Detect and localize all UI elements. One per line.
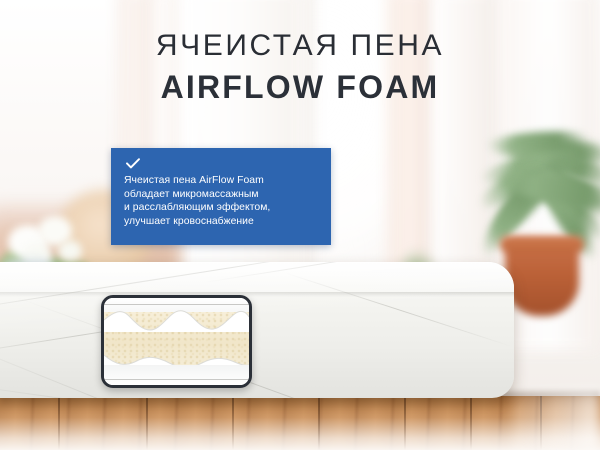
callout-line-2: обладает микромассажным [124, 188, 318, 202]
callout-line-3: и расслабляющим эффектом, [124, 201, 318, 215]
floor-right-blur [512, 390, 600, 450]
page-title: ЯЧЕИСТАЯ ПЕНА AIRFLOW FOAM [0, 28, 600, 107]
check-icon [126, 158, 140, 169]
foam-wave-top [104, 306, 249, 332]
white-flower-4 [58, 240, 82, 262]
callout-line-1: Ячеистая пена AirFlow Foam [124, 174, 318, 188]
feature-callout-box: Ячеистая пена AirFlow Foam обладает микр… [111, 148, 331, 245]
feature-callout-text: Ячеистая пена AirFlow Foam обладает микр… [124, 174, 318, 228]
headline-line-2: AIRFLOW FOAM [0, 67, 600, 107]
inset-seam-bottom [104, 379, 249, 380]
inset-cover-bottom [104, 365, 249, 385]
inset-seam-top [104, 304, 249, 305]
banner-stage: ЯЧЕИСТАЯ ПЕНА AIRFLOW FOAM Ячеистая пена… [0, 0, 600, 450]
mattress-cross-section-inset [101, 295, 252, 388]
headline-line-1: ЯЧЕИСТАЯ ПЕНА [0, 28, 600, 63]
mattress-sheen [0, 262, 514, 398]
callout-line-4: улучшает кровоснабжение [124, 215, 318, 229]
terracotta-pot-rim [500, 236, 584, 252]
mattress [0, 262, 514, 398]
